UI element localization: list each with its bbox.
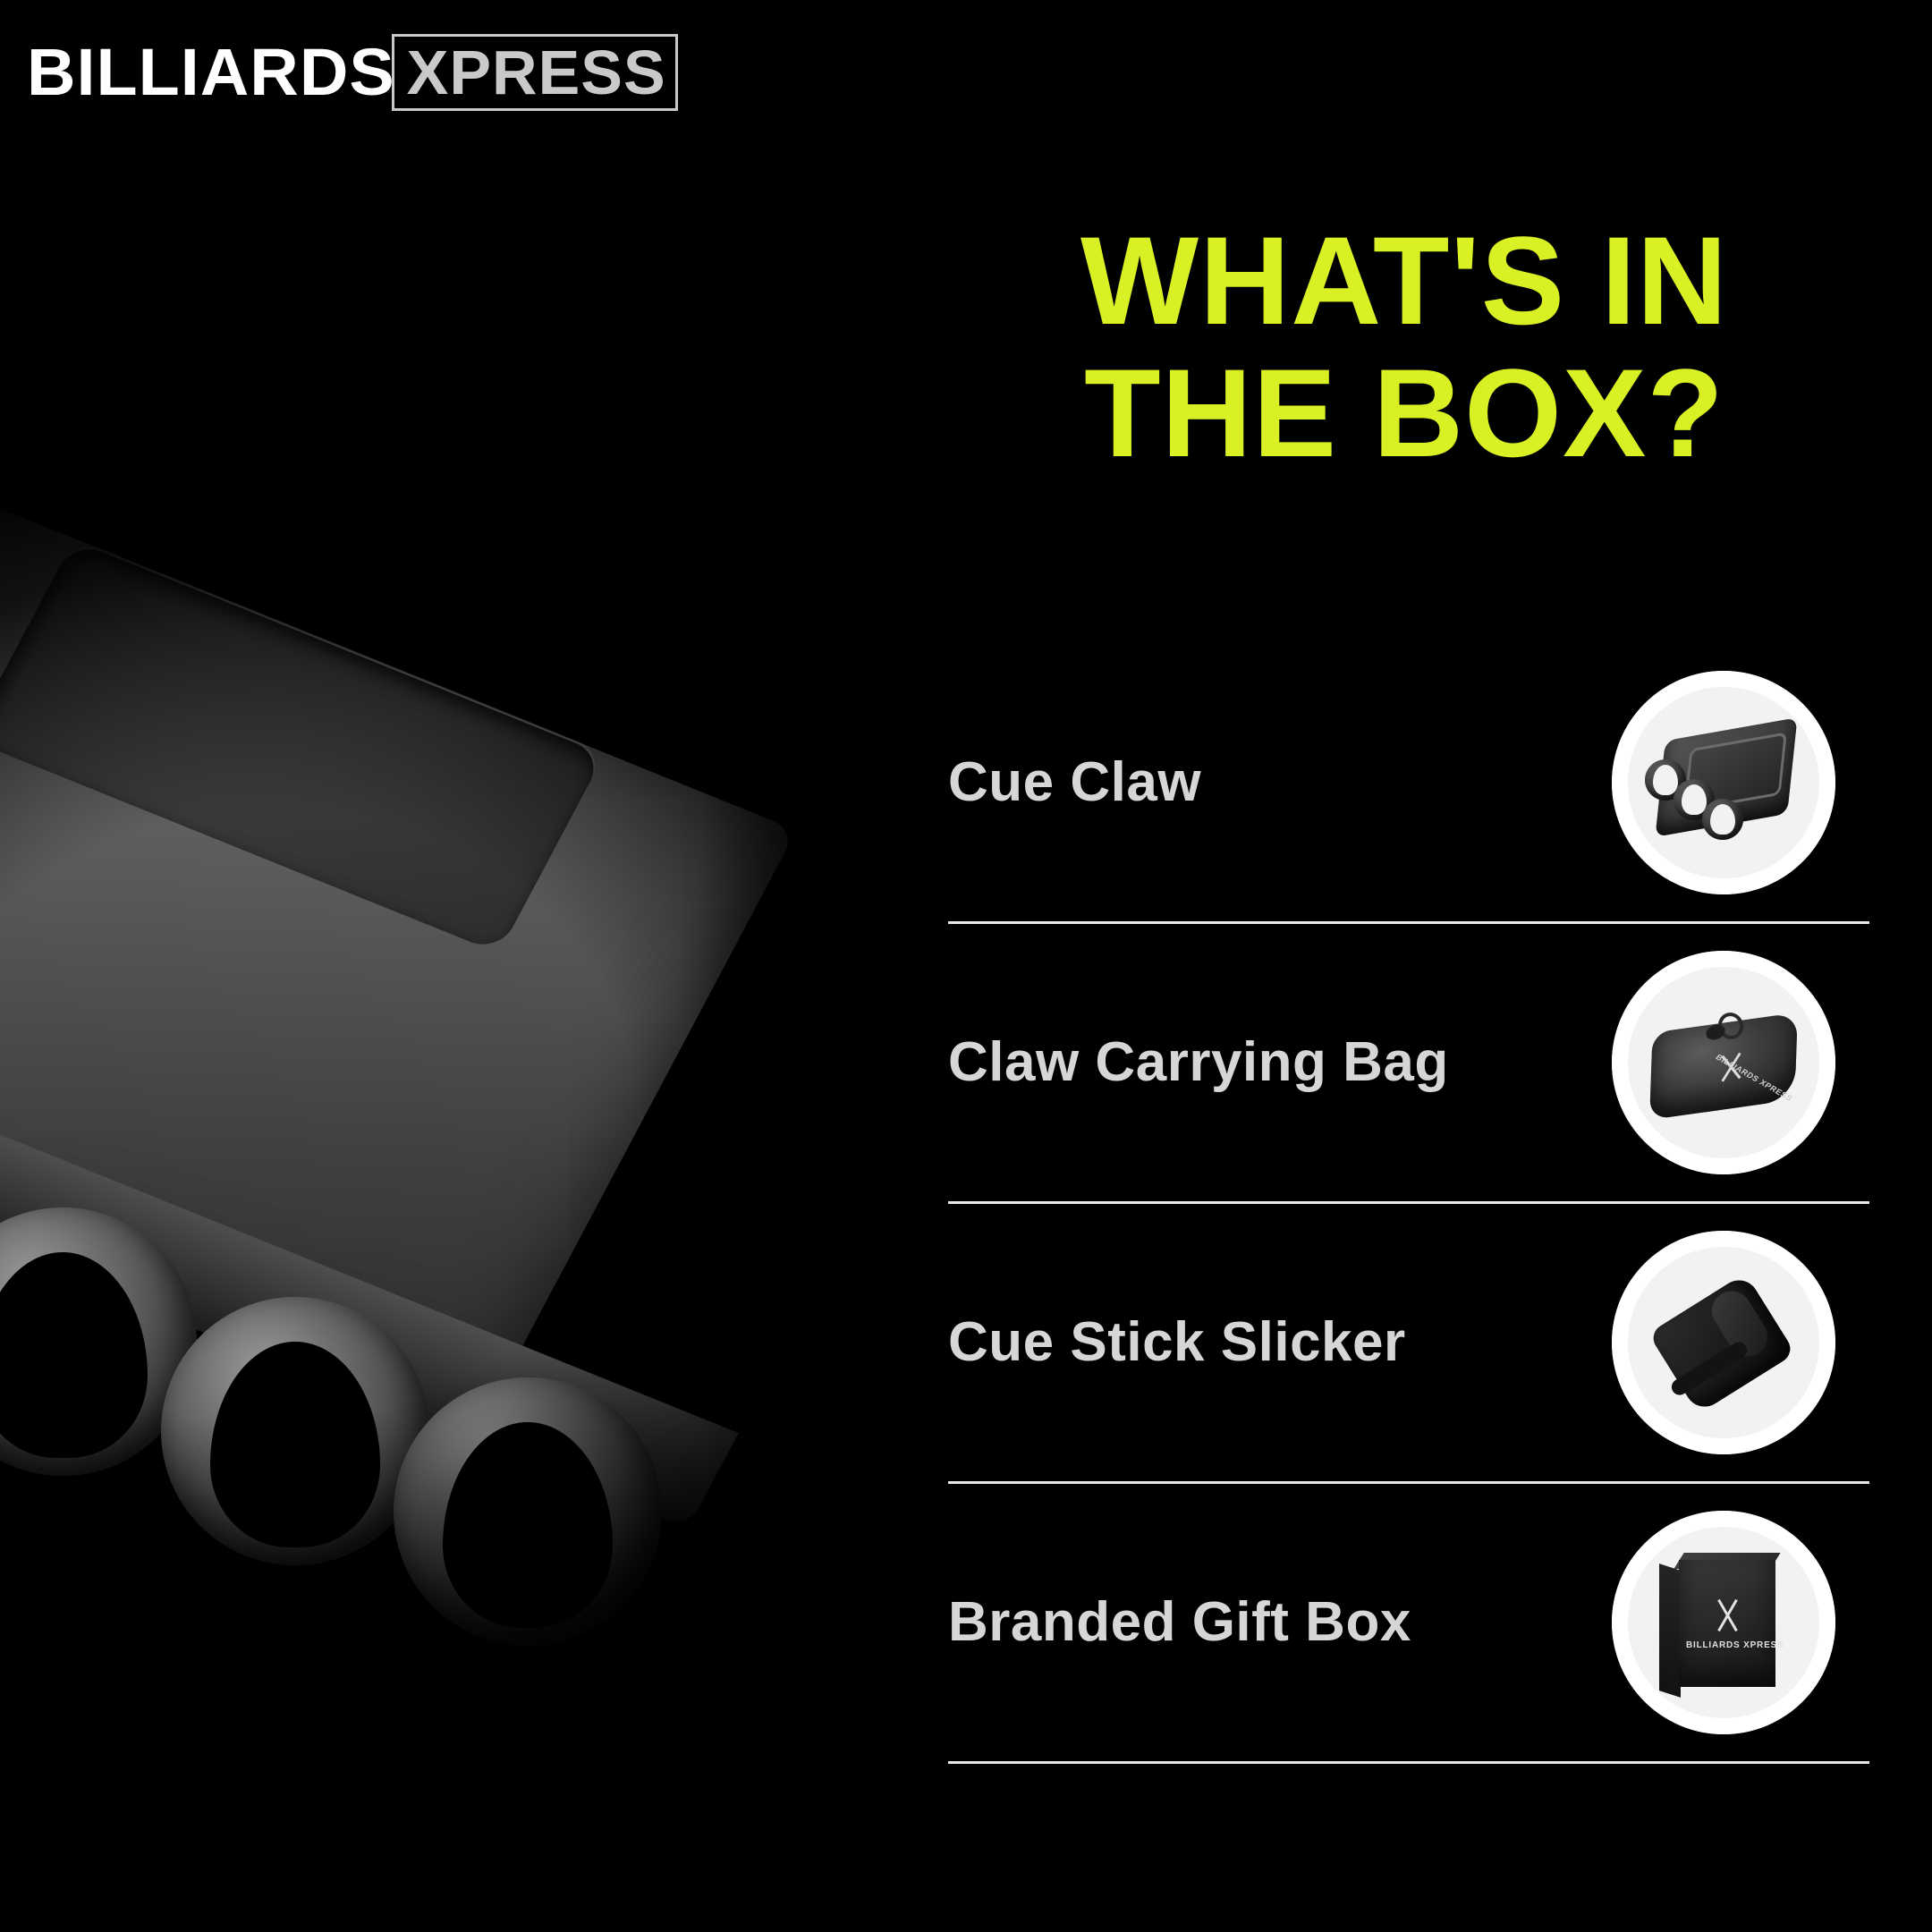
gift-box-thumbnail: BILLIARDS XPRESS [1612, 1511, 1835, 1734]
list-item-label: Cue Claw [948, 752, 1201, 813]
list-item: Cue Stick Slicker [948, 1204, 1869, 1484]
list-item-label: Claw Carrying Bag [948, 1032, 1449, 1093]
box-contents-list: Cue Claw Claw Carrying Bag [948, 644, 1869, 1764]
cue-stick-slicker-thumbnail [1612, 1231, 1835, 1454]
gift-box-brand-text: BILLIARDS XPRESS [1686, 1640, 1772, 1650]
hero-product-image [0, 465, 948, 1717]
list-item: Claw Carrying Bag BILLIARDS XPRESS [948, 924, 1869, 1204]
brand-logo-billiards: BILLIARDS [27, 34, 395, 111]
gift-box-side-face [1659, 1563, 1681, 1698]
crossed-cues-x-icon [1711, 1597, 1745, 1633]
claw-notch-3 [1710, 804, 1735, 835]
brand-logo-xpress: XPRESS [407, 37, 666, 108]
cue-claw-thumbnail [1612, 671, 1835, 894]
thumb-art [1634, 1253, 1813, 1432]
thumb-art [1634, 693, 1813, 872]
claw-notch-1 [1653, 765, 1678, 795]
brand-logo-xpress-box: XPRESS [392, 34, 678, 111]
claw-notch-2 [1682, 784, 1707, 815]
thumb-art: BILLIARDS XPRESS [1634, 973, 1813, 1152]
brand-logo: BILLIARDS XPRESS [27, 34, 678, 111]
list-item-label: Branded Gift Box [948, 1592, 1411, 1653]
carrying-bag-thumbnail: BILLIARDS XPRESS [1612, 951, 1835, 1174]
list-item-label: Cue Stick Slicker [948, 1312, 1406, 1373]
page-title-line-2: THE BOX? [948, 347, 1860, 479]
list-item: Cue Claw [948, 644, 1869, 924]
page-title-line-1: WHAT'S IN [948, 215, 1860, 347]
infographic-canvas: BILLIARDS XPRESS WHAT'S IN THE BOX? Cue … [0, 0, 1932, 1932]
thumb-art: BILLIARDS XPRESS [1634, 1533, 1813, 1712]
page-title: WHAT'S IN THE BOX? [948, 215, 1860, 479]
list-item: Branded Gift Box BILLIARDS XPRESS [948, 1484, 1869, 1764]
